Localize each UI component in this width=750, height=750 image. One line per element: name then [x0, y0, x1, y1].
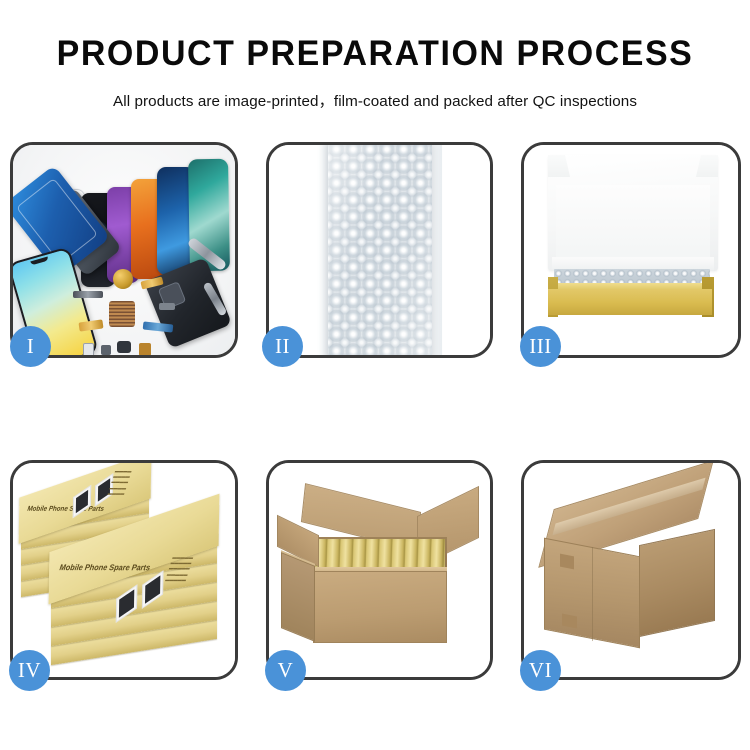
panel-step-3: III	[521, 142, 741, 358]
sealed-carton-seam	[592, 547, 593, 641]
step-badge-4: IV	[9, 650, 50, 691]
panel-step-1-image	[13, 145, 235, 355]
inner-box-white-lid	[548, 155, 718, 271]
step-badge-5: V	[265, 650, 306, 691]
box-label-front: Mobile Phone Spare Parts	[58, 563, 151, 573]
panel-step-5: V	[266, 460, 493, 680]
part-speaker-coil	[113, 269, 133, 289]
step-badge-6: VI	[520, 650, 561, 691]
sealed-carton-tab-top	[560, 554, 574, 570]
bubble-wrap-sheet	[328, 145, 432, 355]
retail-box-stack: Mobile Phone Spare Parts ▬▬▬▬▬▬▬▬▬▬▬▬▬▬▬…	[19, 479, 221, 665]
part-bracket	[159, 303, 175, 310]
part-connector	[101, 345, 111, 355]
panel-step-4: Mobile Phone Spare Parts ▬▬▬▬▬▬▬▬▬▬▬▬▬▬▬…	[10, 460, 238, 680]
box-spec-lines-back: ▬▬▬▬▬▬▬▬▬▬▬▬▬▬▬▬▬▬▬▬	[107, 468, 132, 496]
panel-step-2: II	[266, 142, 493, 358]
panel-step-1: I	[10, 142, 238, 358]
panel-step-4-image: Mobile Phone Spare Parts ▬▬▬▬▬▬▬▬▬▬▬▬▬▬▬…	[13, 463, 235, 677]
step-badge-2: II	[262, 326, 303, 367]
part-camera-module	[117, 341, 131, 353]
panel-step-5-image	[269, 463, 490, 677]
part-metal-bar	[73, 291, 103, 298]
panel-step-3-image	[524, 145, 738, 355]
step-badge-3: III	[520, 326, 561, 367]
sealed-carton-side	[639, 529, 715, 637]
panel-step-2-image	[269, 145, 490, 355]
step-badge-1: I	[10, 326, 51, 367]
box-art-screen-back-1	[73, 485, 91, 519]
process-panel-grid: I II III	[0, 0, 750, 750]
part-chip	[139, 343, 151, 355]
page-root: PRODUCT PREPARATION PROCESS All products…	[0, 0, 750, 750]
carton-body-front	[313, 571, 447, 643]
part-mesh-grid	[109, 301, 135, 327]
carton-body-left	[281, 552, 315, 642]
panel-step-6-image	[524, 463, 738, 677]
part-sim-tray	[83, 343, 94, 355]
panel-step-6: VI	[521, 460, 741, 680]
inner-box-tray-front	[548, 289, 712, 315]
box-label-back: Mobile Phone Spare Parts	[26, 505, 105, 513]
